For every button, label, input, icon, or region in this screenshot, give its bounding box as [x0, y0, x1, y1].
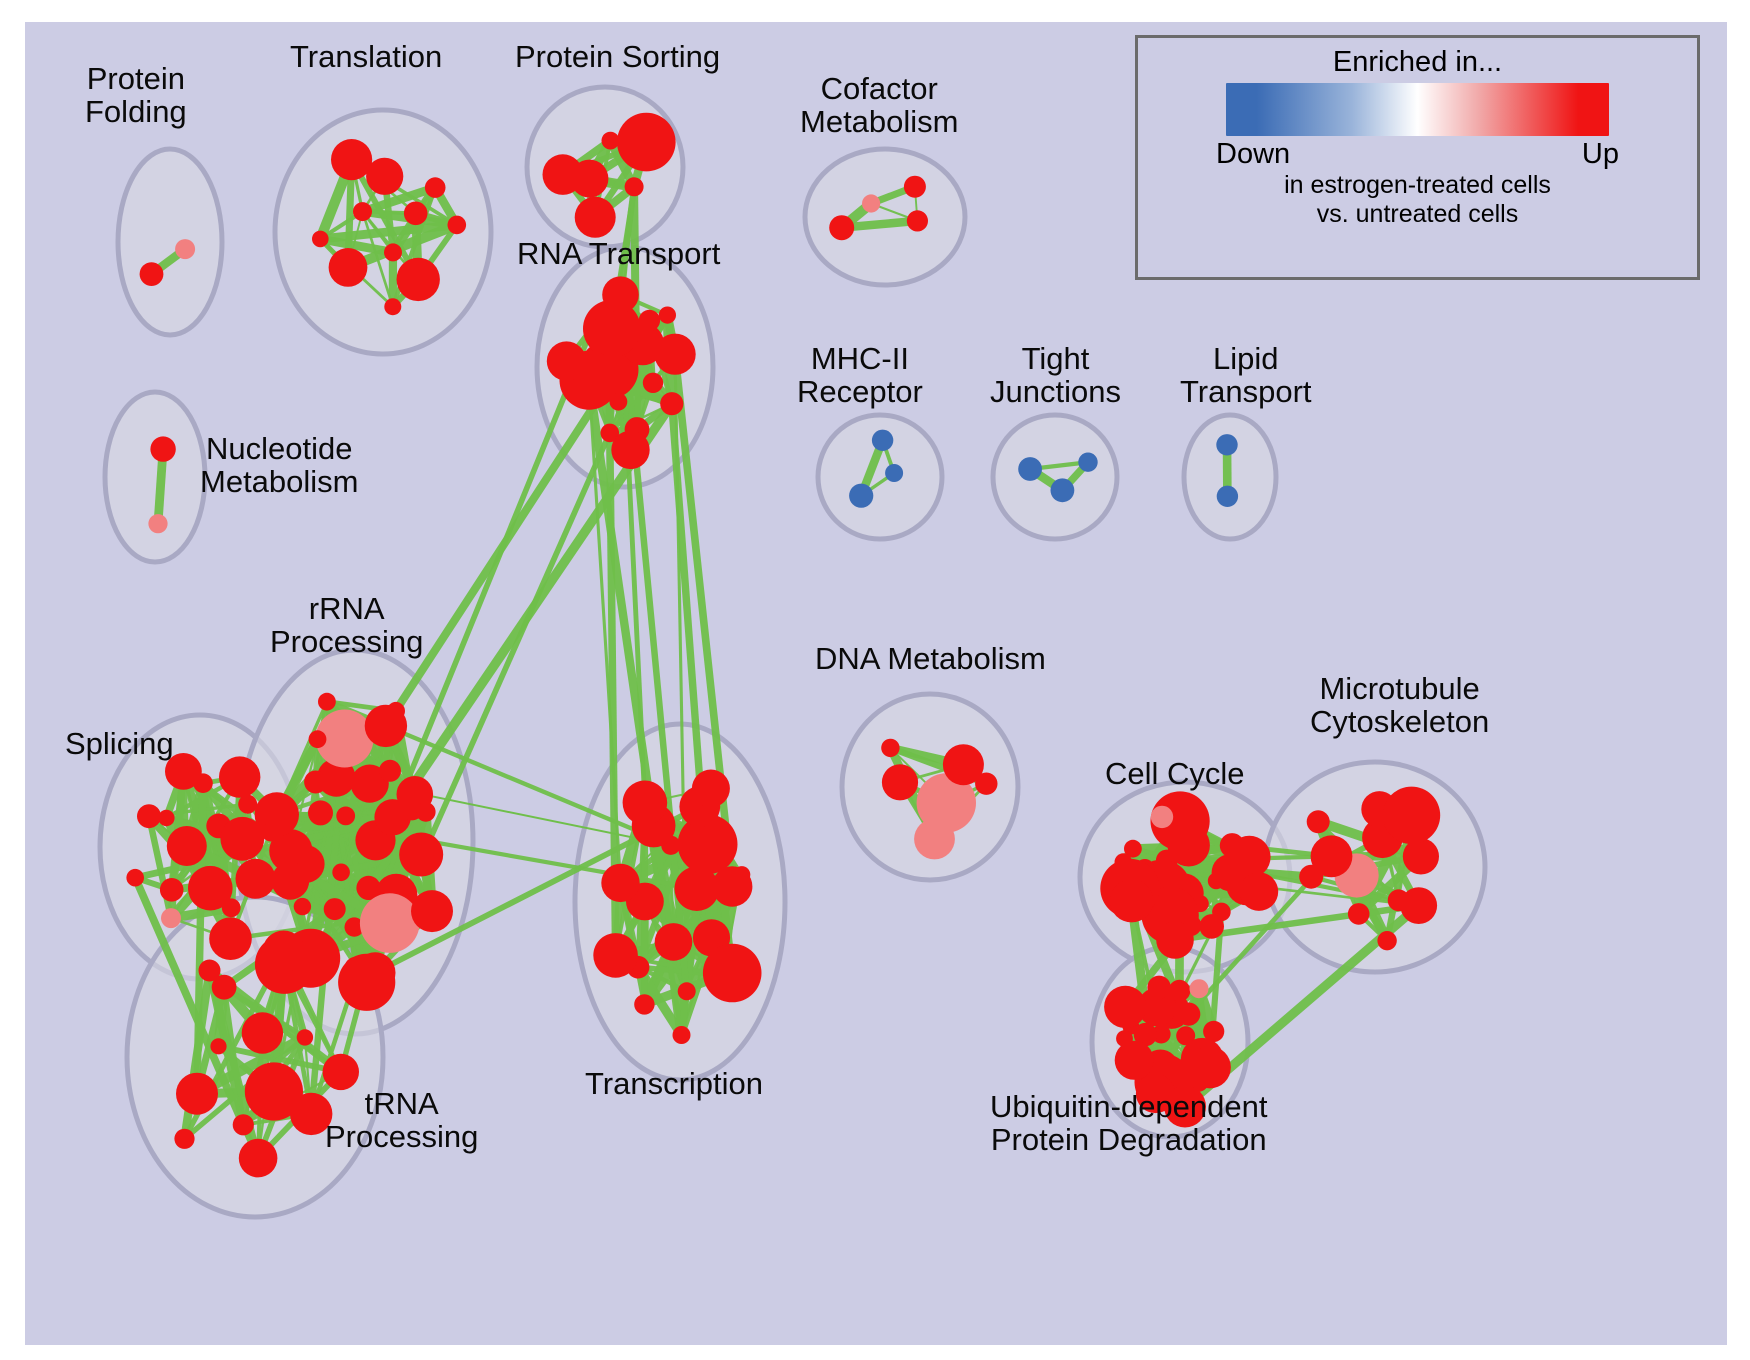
cluster-label: Lipid Transport — [1180, 342, 1312, 409]
legend-title: Enriched in... — [1158, 46, 1677, 79]
network-node[interactable] — [623, 781, 668, 826]
network-node[interactable] — [1018, 457, 1042, 481]
network-node[interactable] — [601, 864, 639, 902]
cluster-label: Microtubule Cytoskeleton — [1310, 672, 1489, 739]
network-node[interactable] — [222, 898, 241, 917]
network-node[interactable] — [384, 298, 401, 315]
network-node[interactable] — [416, 802, 436, 822]
network-node[interactable] — [353, 202, 372, 221]
network-node[interactable] — [1110, 879, 1153, 922]
network-node[interactable] — [324, 898, 346, 920]
network-node[interactable] — [543, 154, 584, 195]
network-node[interactable] — [379, 760, 401, 782]
network-node[interactable] — [1216, 434, 1237, 455]
network-node[interactable] — [137, 804, 161, 828]
network-node[interactable] — [1156, 921, 1194, 959]
network-node[interactable] — [703, 944, 762, 1003]
legend-gradient-bar — [1226, 83, 1609, 136]
network-node[interactable] — [655, 334, 696, 375]
network-node[interactable] — [176, 1073, 218, 1115]
network-node[interactable] — [397, 258, 440, 301]
network-node[interactable] — [336, 807, 355, 826]
network-node[interactable] — [1116, 1030, 1133, 1047]
network-node[interactable] — [593, 933, 638, 978]
network-node[interactable] — [297, 1029, 313, 1045]
network-node[interactable] — [140, 262, 164, 286]
network-node[interactable] — [126, 869, 144, 887]
network-node[interactable] — [904, 176, 926, 198]
network-node[interactable] — [611, 431, 649, 469]
network-node[interactable] — [338, 954, 395, 1011]
network-node[interactable] — [1348, 903, 1370, 925]
network-node[interactable] — [219, 756, 260, 797]
network-node[interactable] — [1147, 976, 1170, 999]
network-node[interactable] — [150, 436, 175, 461]
network-node[interactable] — [862, 194, 880, 212]
network-node[interactable] — [1377, 931, 1396, 950]
cluster-halo — [118, 149, 222, 335]
network-node[interactable] — [1177, 1003, 1200, 1026]
legend-sublabel: in estrogen-treated cells vs. untreated … — [1158, 171, 1677, 228]
network-node[interactable] — [634, 994, 654, 1014]
network-node[interactable] — [239, 1139, 278, 1178]
network-node[interactable] — [975, 773, 997, 795]
cluster-label: Splicing — [65, 727, 174, 760]
network-node[interactable] — [411, 890, 453, 932]
network-node[interactable] — [309, 730, 327, 748]
legend-box: Enriched in... Down Up in estrogen-treat… — [1135, 35, 1700, 280]
network-node[interactable] — [659, 307, 676, 324]
network-node[interactable] — [399, 833, 443, 877]
network-node[interactable] — [294, 898, 311, 915]
network-node[interactable] — [547, 341, 586, 380]
network-node[interactable] — [1400, 887, 1437, 924]
cluster-label: Translation — [290, 40, 442, 73]
network-node[interactable] — [575, 197, 616, 238]
network-node[interactable] — [175, 239, 195, 259]
network-node[interactable] — [1104, 986, 1146, 1028]
network-node[interactable] — [1189, 1046, 1231, 1088]
network-node[interactable] — [1151, 806, 1173, 828]
network-node[interactable] — [262, 823, 280, 841]
network-node[interactable] — [1115, 1041, 1154, 1080]
network-node[interactable] — [882, 764, 918, 800]
network-node[interactable] — [1190, 979, 1209, 998]
network-node[interactable] — [174, 1129, 194, 1149]
network-node[interactable] — [639, 310, 660, 331]
network-node[interactable] — [312, 231, 329, 248]
network-node[interactable] — [318, 693, 336, 711]
network-node[interactable] — [660, 392, 683, 415]
cluster-label: MHC-II Receptor — [797, 342, 923, 409]
network-node[interactable] — [1203, 1021, 1224, 1042]
network-node[interactable] — [849, 484, 873, 508]
network-node[interactable] — [425, 177, 446, 198]
network-node[interactable] — [673, 1026, 691, 1044]
network-node[interactable] — [1051, 478, 1075, 502]
network-node[interactable] — [387, 702, 405, 720]
network-node[interactable] — [148, 514, 167, 533]
network-node[interactable] — [1307, 810, 1330, 833]
cluster-label: Protein Folding — [85, 62, 187, 129]
network-node[interactable] — [1217, 486, 1238, 507]
network-node[interactable] — [583, 319, 601, 337]
network-node[interactable] — [233, 1114, 254, 1135]
cluster-label: tRNA Processing — [325, 1087, 478, 1154]
network-node[interactable] — [692, 770, 730, 808]
network-node[interactable] — [1169, 980, 1191, 1002]
network-node[interactable] — [242, 1012, 283, 1053]
network-node[interactable] — [1383, 787, 1440, 844]
network-edge-intercluster — [634, 187, 637, 430]
network-node[interactable] — [914, 819, 955, 860]
cluster-label: Tight Junctions — [990, 342, 1121, 409]
network-node[interactable] — [625, 177, 644, 196]
network-node[interactable] — [332, 864, 350, 882]
network-node[interactable] — [323, 1054, 359, 1090]
network-node[interactable] — [1228, 836, 1271, 879]
cluster-halo — [105, 392, 205, 562]
network-node[interactable] — [602, 132, 620, 150]
cluster-label: DNA Metabolism — [815, 642, 1046, 675]
network-node[interactable] — [209, 917, 252, 960]
cluster-label: Protein Sorting — [515, 40, 720, 73]
legend-label-up: Up — [1582, 138, 1619, 171]
network-node[interactable] — [829, 215, 854, 240]
network-node[interactable] — [360, 893, 420, 953]
network-node[interactable] — [1299, 865, 1323, 889]
network-node[interactable] — [210, 1038, 226, 1054]
legend-label-down: Down — [1216, 138, 1290, 171]
network-node[interactable] — [304, 771, 327, 794]
network-node[interactable] — [907, 210, 928, 231]
network-node[interactable] — [643, 373, 663, 393]
network-node[interactable] — [329, 248, 368, 287]
network-node[interactable] — [404, 202, 428, 226]
cluster-label: RNA Transport — [517, 237, 720, 270]
network-node[interactable] — [199, 960, 221, 982]
network-node[interactable] — [1078, 453, 1097, 472]
cluster-halo — [805, 149, 965, 285]
network-node[interactable] — [161, 908, 181, 928]
network-node[interactable] — [655, 923, 693, 961]
network-node[interactable] — [308, 800, 333, 825]
network-node[interactable] — [331, 139, 372, 180]
network-node[interactable] — [1240, 872, 1279, 911]
cluster-label: Cofactor Metabolism — [800, 72, 959, 139]
network-node[interactable] — [236, 859, 276, 899]
network-node[interactable] — [1115, 853, 1133, 871]
network-node[interactable] — [448, 216, 467, 235]
network-node[interactable] — [602, 276, 639, 313]
cluster-label: Nucleotide Metabolism — [200, 432, 359, 499]
network-node[interactable] — [384, 243, 402, 261]
network-node[interactable] — [881, 739, 899, 757]
network-node[interactable] — [271, 862, 309, 900]
cluster-label: Cell Cycle — [1105, 757, 1245, 790]
cluster-label: rRNA Processing — [270, 592, 423, 659]
network-node[interactable] — [617, 113, 676, 172]
cluster-label: Transcription — [585, 1067, 763, 1100]
cluster-halo — [993, 415, 1117, 539]
network-canvas: Enriched in... Down Up in estrogen-treat… — [25, 22, 1727, 1345]
network-node[interactable] — [885, 464, 903, 482]
network-node[interactable] — [1199, 914, 1224, 939]
network-node[interactable] — [160, 878, 184, 902]
network-node[interactable] — [872, 430, 893, 451]
network-node[interactable] — [263, 931, 305, 973]
figure-root: Enriched in... Down Up in estrogen-treat… — [0, 0, 1750, 1360]
network-node[interactable] — [733, 866, 750, 883]
network-node[interactable] — [167, 826, 207, 866]
network-node[interactable] — [678, 982, 696, 1000]
cluster-label: Ubiquitin-dependent Protein Degradation — [990, 1090, 1268, 1157]
